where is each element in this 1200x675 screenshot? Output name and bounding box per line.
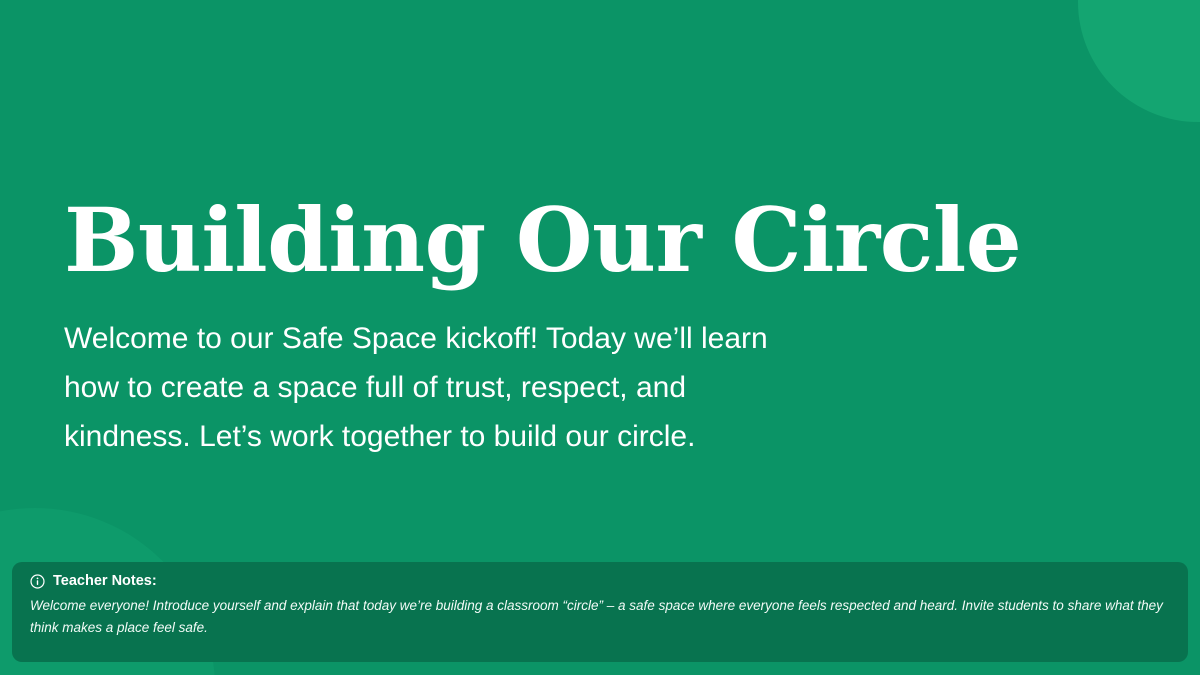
- teacher-notes-label: Teacher Notes:: [53, 573, 157, 590]
- teacher-notes-header: Teacher Notes:: [30, 573, 1170, 590]
- teacher-notes-body: Welcome everyone! Introduce yourself and…: [30, 595, 1170, 638]
- page-title: Building Our Circle: [64, 196, 884, 286]
- decorative-circle-top-right-icon: [1078, 0, 1200, 122]
- info-circle-icon: [30, 574, 45, 589]
- slide-subtitle: Welcome to our Safe Space kickoff! Today…: [64, 314, 804, 461]
- teacher-notes-panel: Teacher Notes: Welcome everyone! Introdu…: [12, 562, 1188, 662]
- slide-canvas: Building Our Circle Welcome to our Safe …: [0, 0, 1200, 675]
- slide-content: Building Our Circle Welcome to our Safe …: [64, 196, 884, 461]
